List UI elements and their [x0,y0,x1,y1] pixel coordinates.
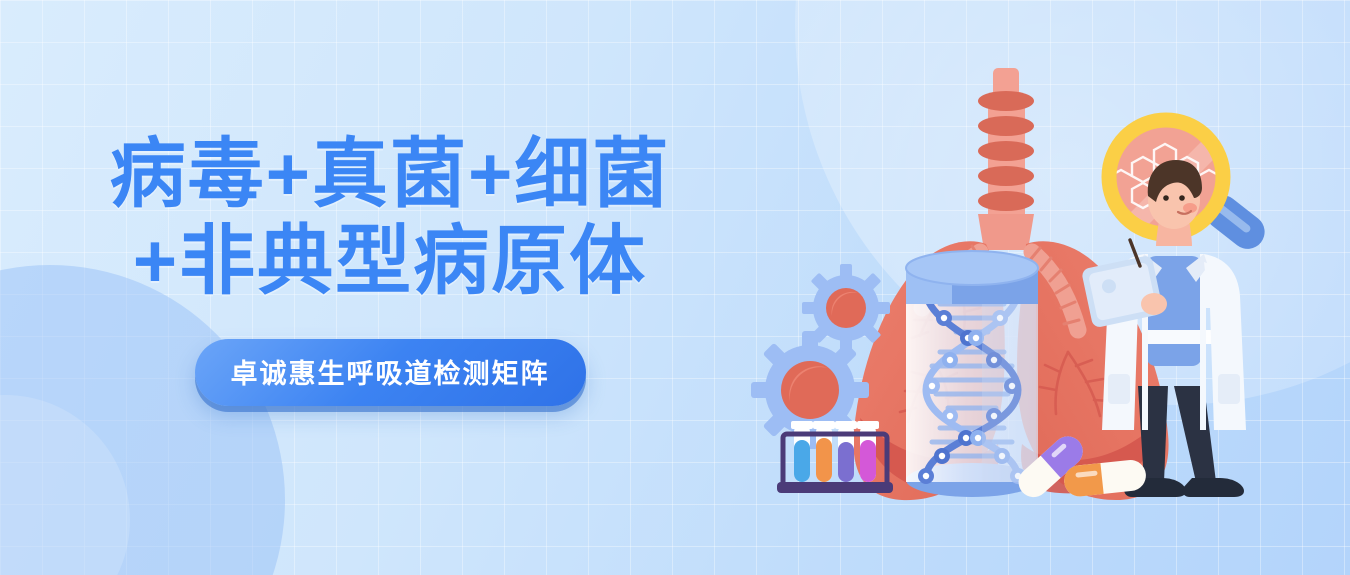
test-tube-3 [835,421,857,482]
headline-line-1: 病毒+真菌+细菌 [110,132,671,217]
doctor-coat-pocket-right [1218,374,1240,404]
doctor-coat-pocket-left [1108,374,1130,404]
gear-large-hub [781,361,839,419]
dna-specimen-jar [906,251,1038,497]
test-tube-rack-group [777,421,893,493]
headline-line-2: +非典型病原体 [0,219,780,306]
test-tube-4 [857,421,879,482]
page-title: 病毒+真菌+细菌 +非典型病原体 [0,132,780,305]
test-tube-1 [791,421,813,482]
doctor-leg-right [1174,386,1216,482]
doctor-shoe-right [1182,478,1244,497]
doctor-eye [1179,195,1185,201]
test-tubes [791,421,879,482]
promo-banner: 病毒+真菌+细菌 +非典型病原体 卓诚惠生呼吸道检测矩阵 [0,0,1350,575]
respiratory-diagnostics-illustration [750,0,1350,575]
test-tube-rack-base [777,482,893,493]
carina [978,214,1034,250]
test-tube-2 [813,421,835,482]
headline-block: 病毒+真菌+细菌 +非典型病原体 卓诚惠生呼吸道检测矩阵 [0,132,780,406]
trachea-rings [978,91,1034,211]
subtitle-pill[interactable]: 卓诚惠生呼吸道检测矩阵 [195,339,586,406]
doctor-eye-2 [1163,195,1169,201]
doctor-hand [1141,293,1167,315]
